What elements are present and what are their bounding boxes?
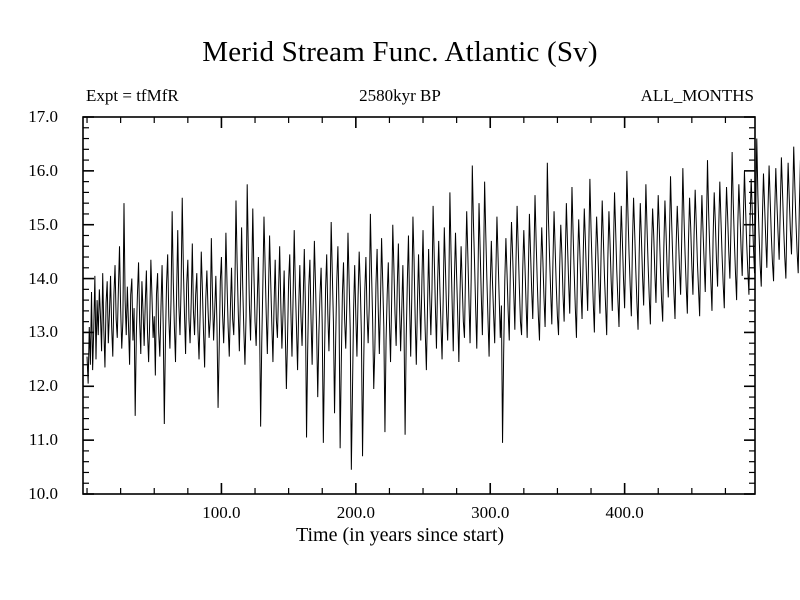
chart-figure: Merid Stream Func. Atlantic (Sv) Expt = … <box>0 0 800 600</box>
x-tick-label: 300.0 <box>445 504 535 521</box>
data-series-line <box>87 139 800 470</box>
y-tick-label: 12.0 <box>0 377 58 394</box>
x-tick-label: 100.0 <box>176 504 266 521</box>
y-tick-label: 11.0 <box>0 431 58 448</box>
y-tick-label: 15.0 <box>0 216 58 233</box>
y-tick-label: 13.0 <box>0 323 58 340</box>
x-axis-title: Time (in years since start) <box>0 524 800 547</box>
x-tick-label: 400.0 <box>580 504 670 521</box>
y-tick-label: 14.0 <box>0 270 58 287</box>
x-tick-label: 200.0 <box>311 504 401 521</box>
y-tick-label: 16.0 <box>0 162 58 179</box>
y-tick-label: 10.0 <box>0 485 58 502</box>
y-tick-label: 17.0 <box>0 108 58 125</box>
